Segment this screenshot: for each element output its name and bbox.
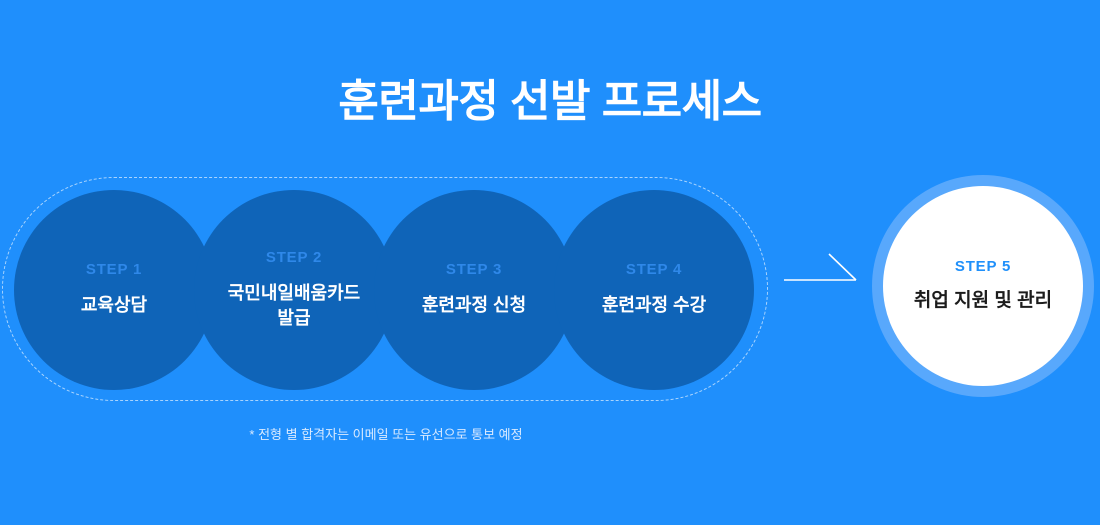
step-4-number: STEP 4 xyxy=(626,262,682,277)
process-footnote: * 전형 별 합격자는 이메일 또는 유선으로 통보 예정 xyxy=(0,427,772,443)
step-1-number: STEP 1 xyxy=(86,262,142,277)
step-3-number: STEP 3 xyxy=(446,262,502,277)
process-step-3: STEP 3 훈련과정 신청 xyxy=(374,190,574,390)
process-step-1: STEP 1 교육상담 xyxy=(14,190,214,390)
process-step-4: STEP 4 훈련과정 수강 xyxy=(554,190,754,390)
step-3-label: 훈련과정 신청 xyxy=(422,293,526,317)
arrow-right-icon xyxy=(784,252,858,288)
step-4-label: 훈련과정 수강 xyxy=(602,293,706,317)
step-1-label: 교육상담 xyxy=(81,293,147,317)
step-2-label: 국민내일배움카드 발급 xyxy=(228,281,360,330)
step-5-label: 취업 지원 및 관리 xyxy=(914,288,1052,314)
training-process-infographic: 훈련과정 선발 프로세스 STEP 1 교육상담 STEP 2 국민내일배움카드… xyxy=(0,0,1100,525)
process-step-2: STEP 2 국민내일배움카드 발급 xyxy=(194,190,394,390)
step-2-number: STEP 2 xyxy=(266,250,322,265)
step-5-number: STEP 5 xyxy=(955,259,1011,274)
page-title: 훈련과정 선발 프로세스 xyxy=(0,78,1100,126)
process-step-5: STEP 5 취업 지원 및 관리 xyxy=(883,186,1083,386)
